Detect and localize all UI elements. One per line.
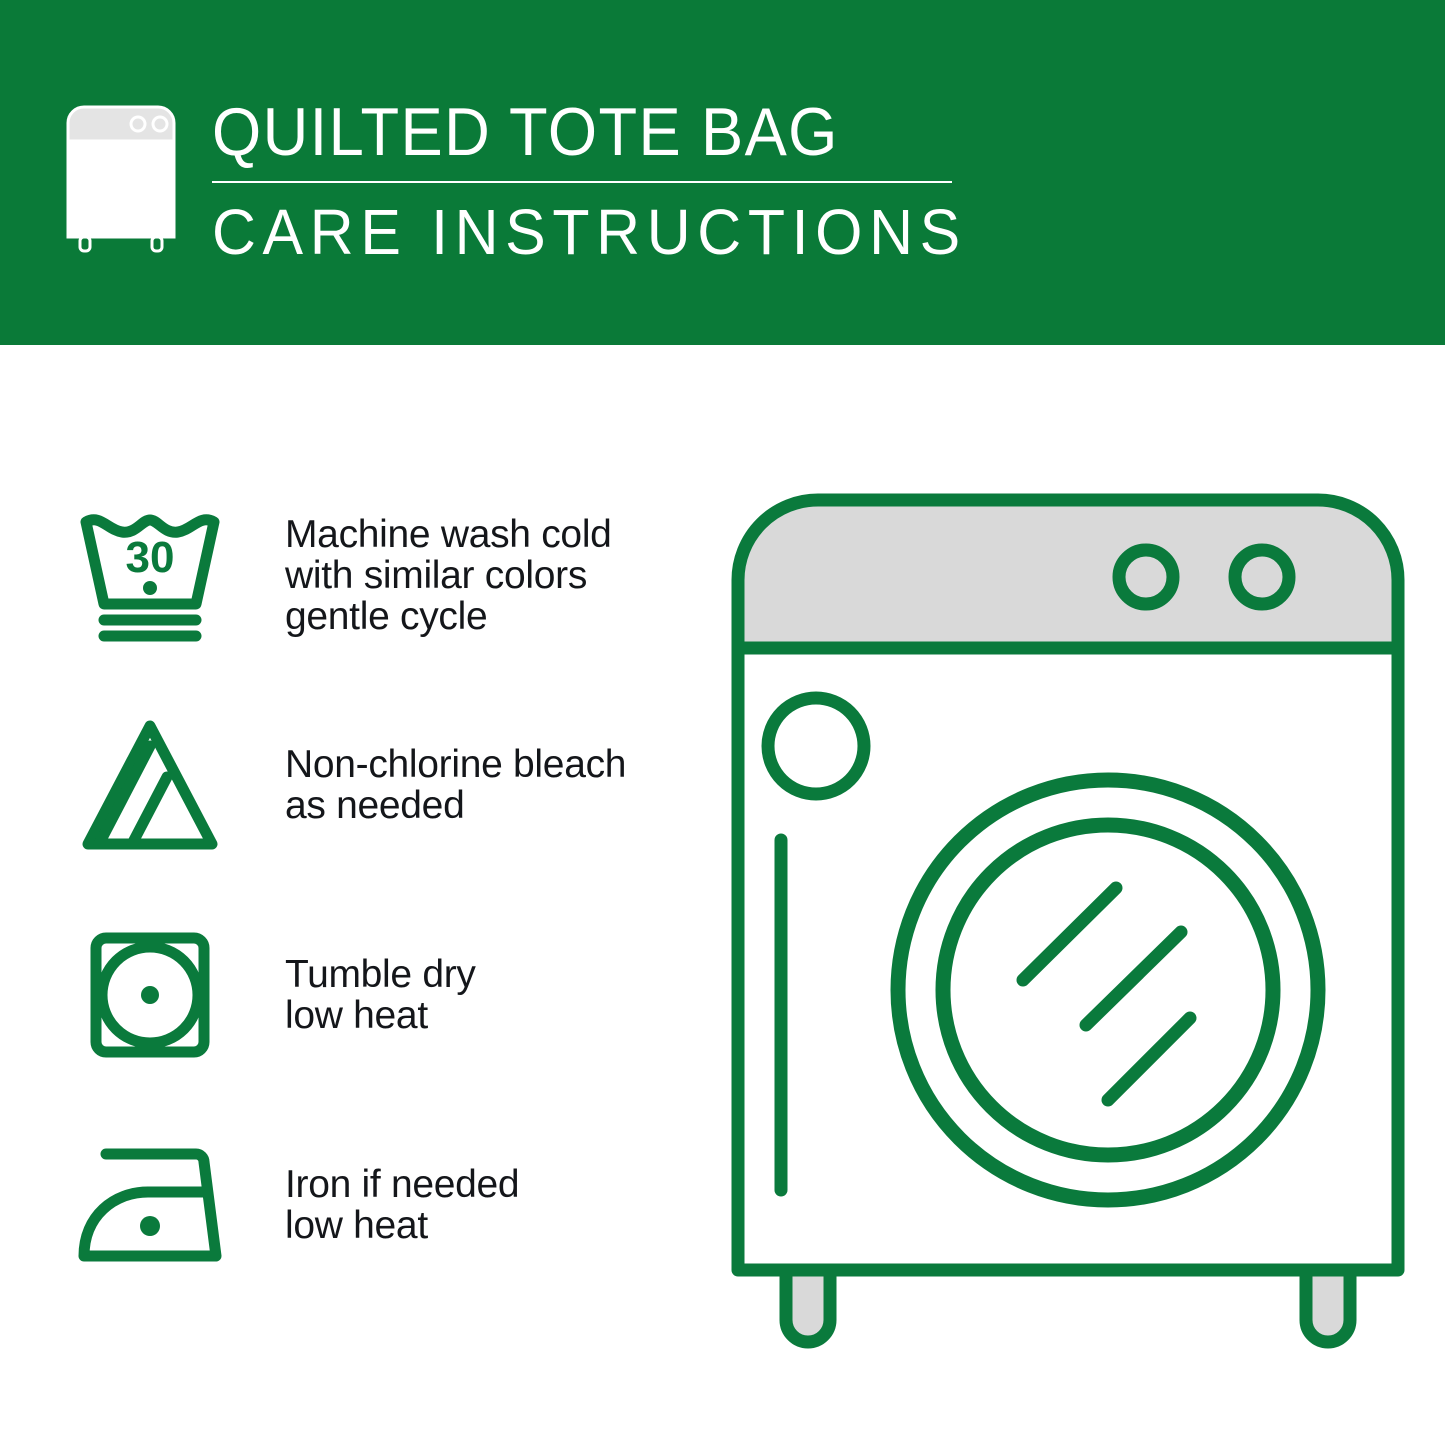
front-load-washing-machine-illustration: [718, 480, 1418, 1370]
care-line-2: as needed: [285, 785, 626, 826]
header-band: QUILTED TOTE BAG CARE INSTRUCTIONS: [0, 0, 1445, 345]
leg-right: [1306, 1270, 1350, 1342]
page-subtitle: CARE INSTRUCTIONS: [212, 197, 967, 267]
non-chlorine-bleach-triangle-icon: [65, 710, 235, 860]
control-panel: [738, 500, 1398, 648]
care-row-machine-wash: 30 Machine wash cold with similar colors…: [0, 470, 700, 680]
care-line-1: Tumble dry: [285, 954, 476, 995]
page-title: QUILTED TOTE BAG: [212, 95, 951, 169]
care-text-bleach: Non-chlorine bleach as needed: [285, 744, 626, 826]
care-line-1: Iron if needed: [285, 1164, 519, 1205]
washing-machine-icon: [62, 101, 180, 256]
care-text-iron: Iron if needed low heat: [285, 1164, 519, 1246]
care-row-bleach: Non-chlorine bleach as needed: [0, 680, 700, 890]
care-text-machine-wash: Machine wash cold with similar colors ge…: [285, 514, 612, 637]
care-line-1: Non-chlorine bleach: [285, 744, 626, 785]
door-outer-ring: [898, 780, 1318, 1200]
care-line-2: low heat: [285, 1205, 519, 1246]
care-instructions-infographic: QUILTED TOTE BAG CARE INSTRUCTIONS 30: [0, 0, 1445, 1445]
care-text-tumble-dry: Tumble dry low heat: [285, 954, 476, 1036]
iron-low-heat-icon: [65, 1130, 235, 1280]
care-row-tumble-dry: Tumble dry low heat: [0, 890, 700, 1100]
header-content: QUILTED TOTE BAG CARE INSTRUCTIONS: [62, 95, 1007, 267]
care-instruction-list: 30 Machine wash cold with similar colors…: [0, 470, 700, 1310]
wash-tub-30-gentle-icon: 30: [65, 500, 235, 650]
wash-temperature-label: 30: [126, 533, 175, 582]
care-line-2: low heat: [285, 995, 476, 1036]
detergent-indicator-circle: [768, 698, 864, 794]
care-line-2: with similar colors: [285, 555, 612, 596]
header-title-block: QUILTED TOTE BAG CARE INSTRUCTIONS: [212, 95, 1007, 267]
leg-left: [786, 1270, 830, 1342]
care-line-1: Machine wash cold: [285, 514, 612, 555]
care-row-iron: Iron if needed low heat: [0, 1100, 700, 1310]
door-glints: [1023, 888, 1190, 1100]
care-line-3: gentle cycle: [285, 596, 612, 637]
title-divider: [212, 181, 952, 183]
tumble-dry-low-icon: [65, 920, 235, 1070]
